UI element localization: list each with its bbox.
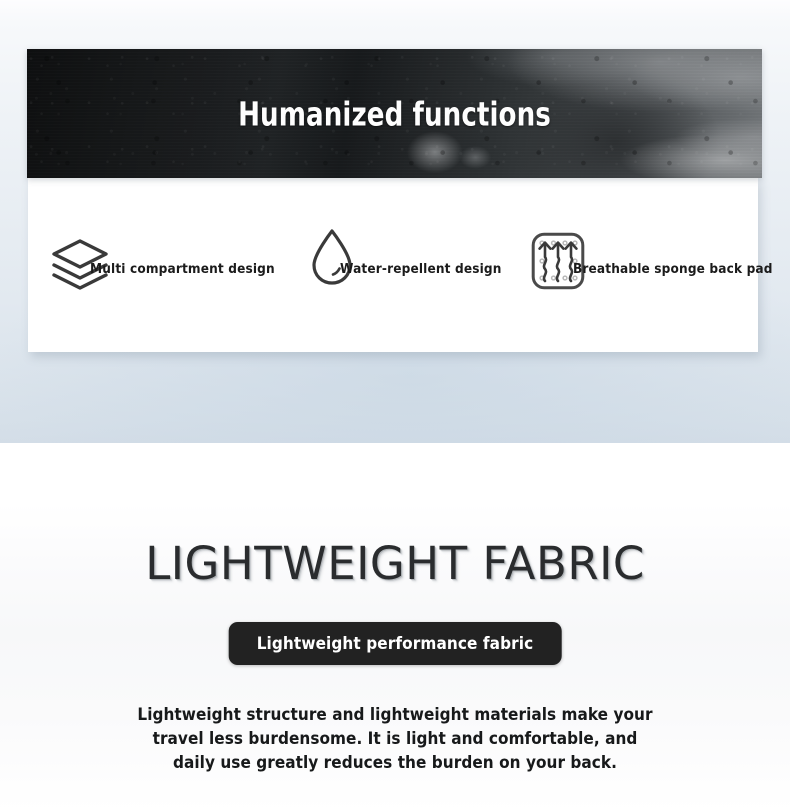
fabric-description-line: daily use greatly reduces the burden on … xyxy=(0,751,790,775)
feature-label: Multi compartment design xyxy=(90,261,275,277)
feature-list: Multi compartment design Water-repellent… xyxy=(28,178,758,352)
fabric-badge: Lightweight performance fabric xyxy=(229,622,562,665)
fabric-description-line: Lightweight structure and lightweight ma… xyxy=(0,703,790,727)
feature-label: Breathable sponge back pad xyxy=(573,261,773,277)
feature-label: Water-repellent design xyxy=(340,261,502,277)
feature-item-breathable-pad: Breathable sponge back pad xyxy=(483,178,758,352)
fabric-heading: LIGHTWEIGHT FABRIC xyxy=(0,537,790,590)
fabric-description: Lightweight structure and lightweight ma… xyxy=(0,703,790,775)
banner-title: Humanized functions xyxy=(71,94,718,133)
water-drop-icon xyxy=(310,228,354,286)
humanized-functions-banner: Humanized functions xyxy=(27,49,762,178)
fabric-description-line: travel less burdensome. It is light and … xyxy=(0,727,790,751)
product-detail-page: Humanized functions Multi compartment de… xyxy=(0,0,790,812)
